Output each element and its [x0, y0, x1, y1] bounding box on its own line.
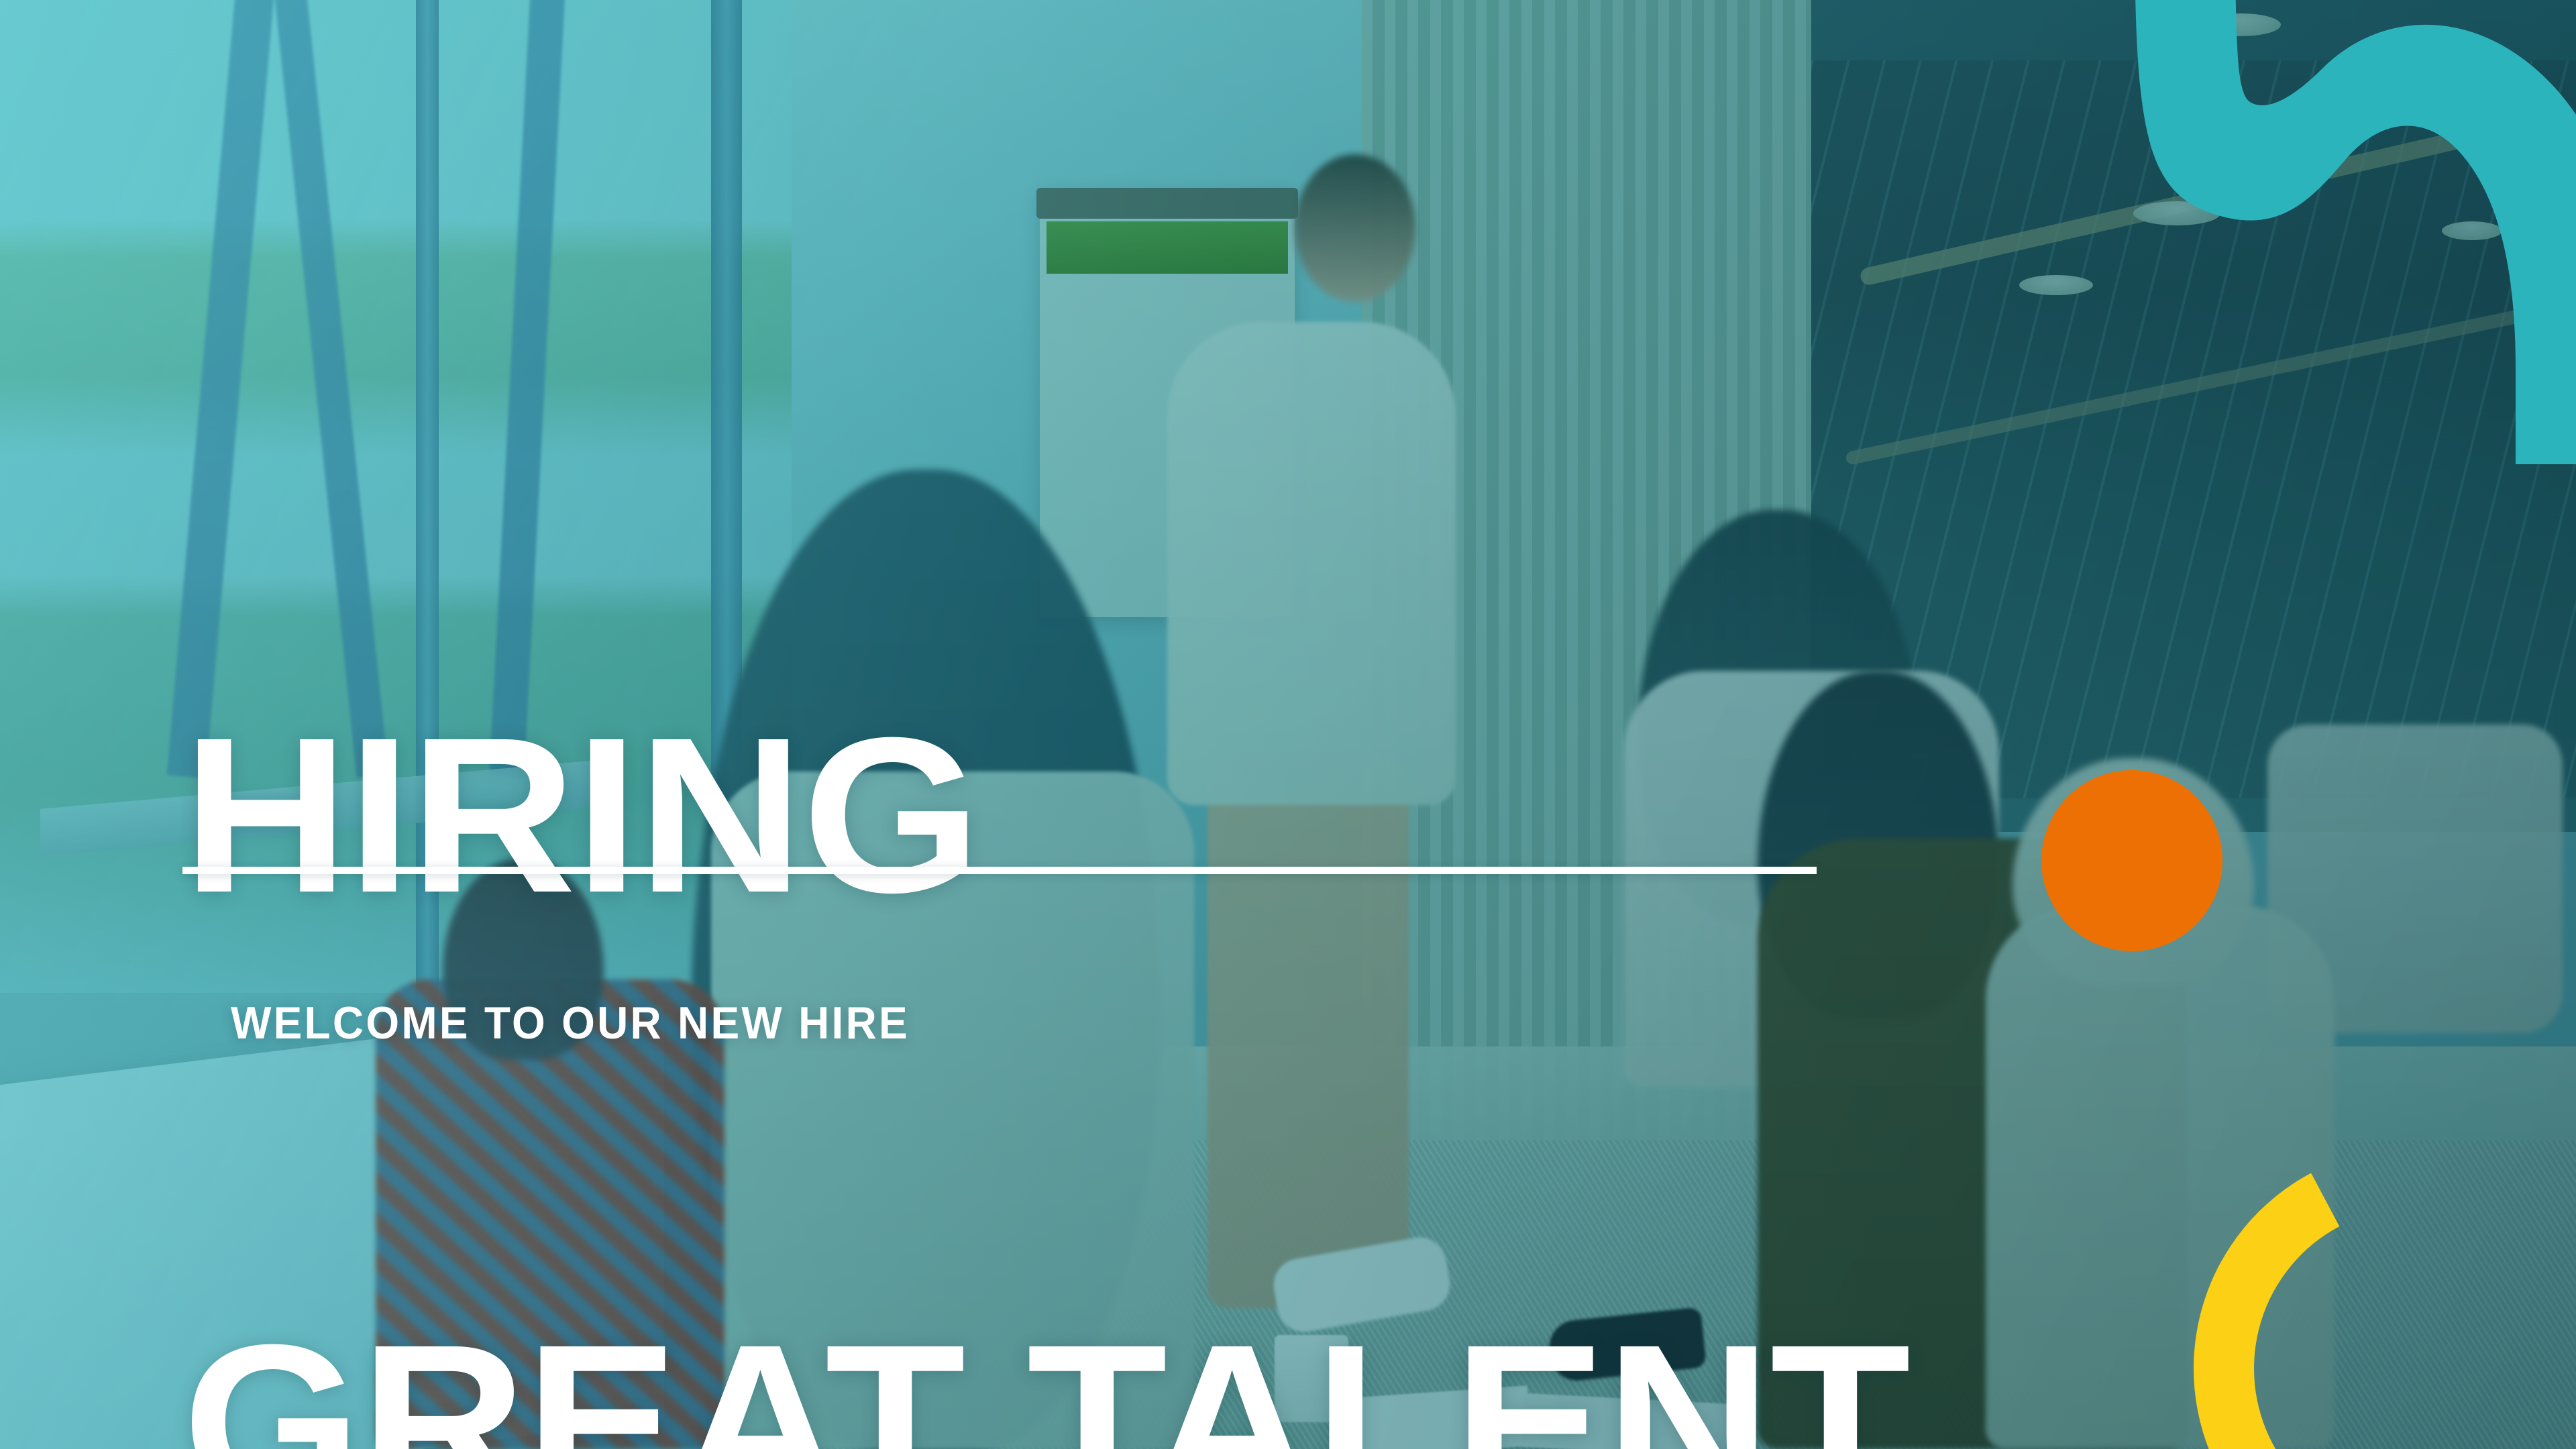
headline-line-1: HIRING [182, 711, 1909, 919]
banner-content: HIRING GREAT TALENT WELCOME TO OUR NEW H… [0, 0, 2576, 1449]
hiring-banner: HIRING GREAT TALENT WELCOME TO OUR NEW H… [0, 0, 2576, 1449]
banner-subtitle: WELCOME TO OUR NEW HIRE [231, 997, 910, 1049]
headline-line-2: GREAT TALENT [182, 1318, 1909, 1449]
divider-rule [182, 867, 1817, 874]
